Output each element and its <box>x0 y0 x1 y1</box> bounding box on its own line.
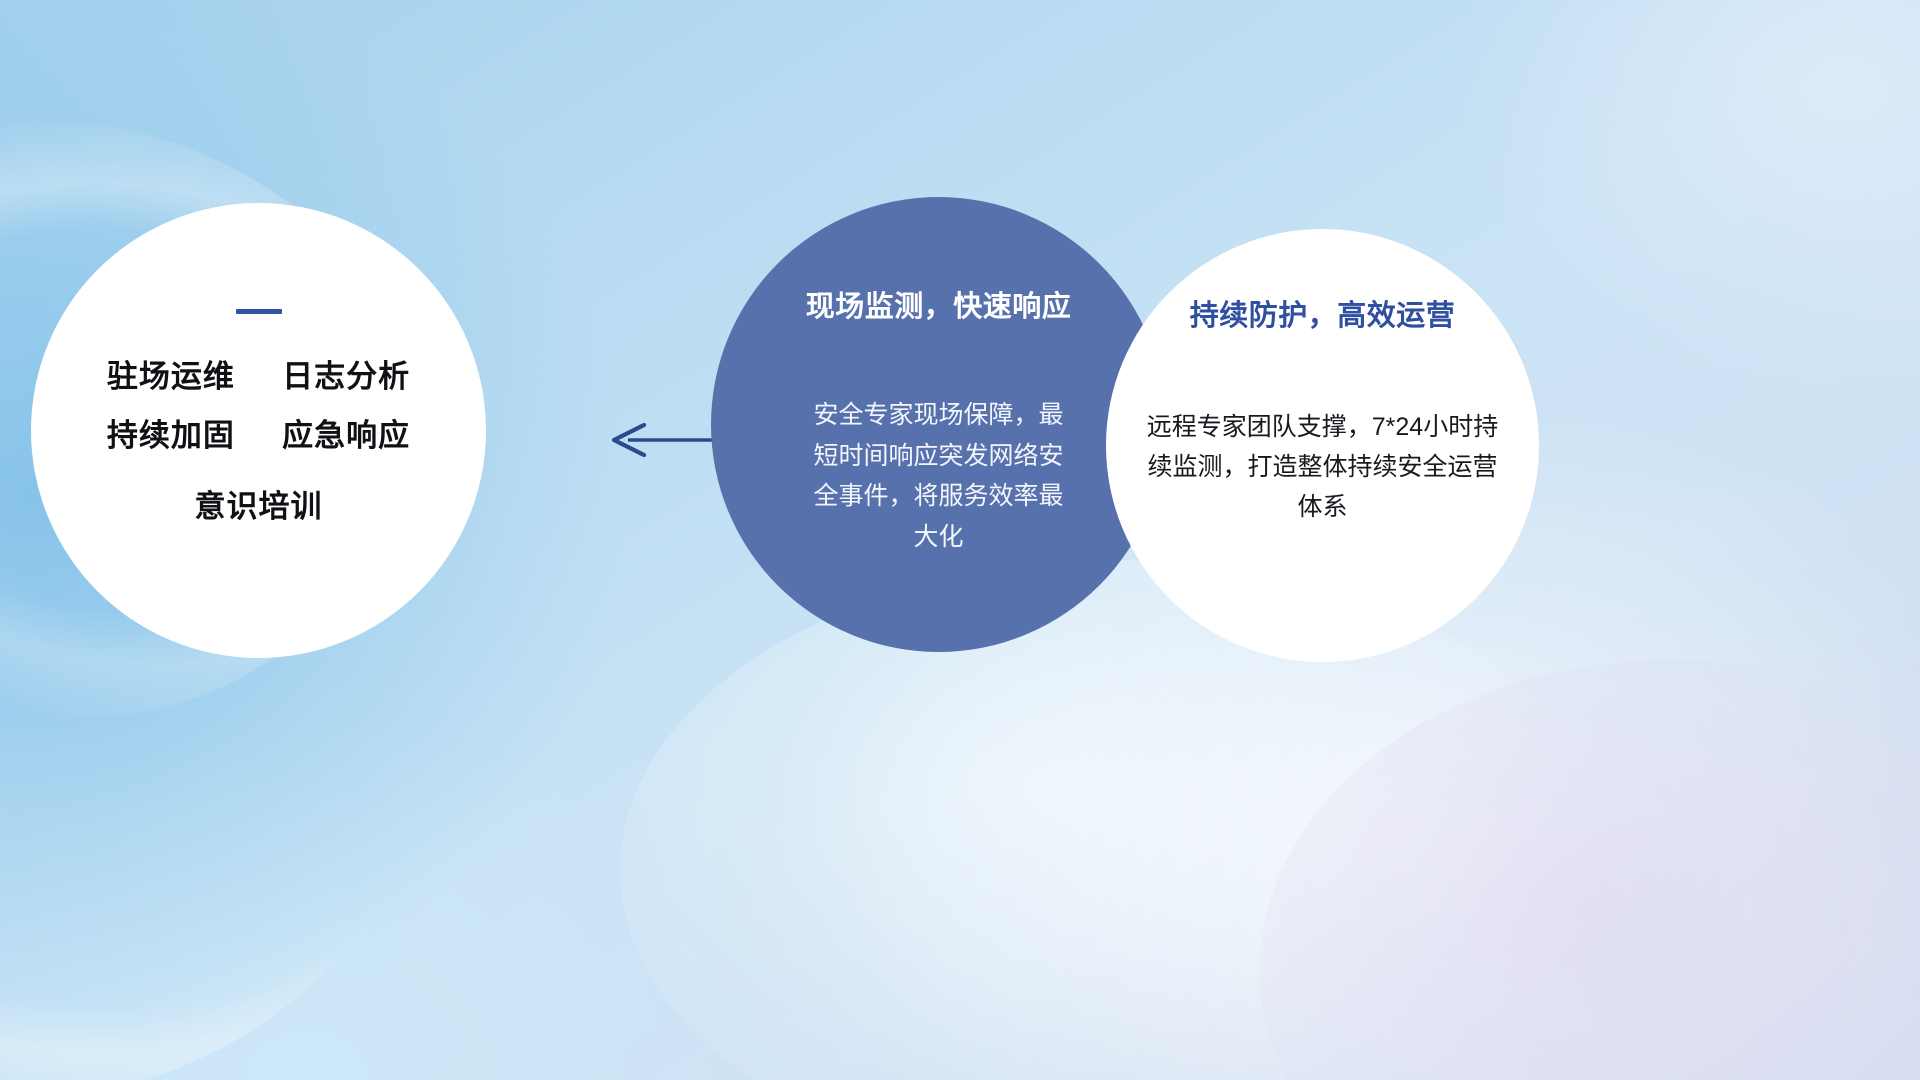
keyword-row-1: 驻场运维 日志分析 <box>107 361 410 392</box>
divider-dash-icon <box>236 309 282 314</box>
background-glow-bottom-right <box>1260 660 1920 1080</box>
right-continuous-protection-circle: 持续防护，高效运营 远程专家团队支撑，7*24小时持续监测，打造整体持续安全运营… <box>1106 229 1539 662</box>
middle-circle-title: 现场监测，快速响应 <box>806 283 1072 325</box>
keyword-row-3: 意识培训 <box>195 491 323 522</box>
keyword-row-2: 持续加固 应急响应 <box>107 420 410 451</box>
right-circle-title: 持续防护，高效运营 <box>1190 292 1456 334</box>
keyword-onsite-ops: 驻场运维 <box>107 359 235 394</box>
slide-canvas: 驻场运维 日志分析 持续加固 应急响应 意识培训 现场监测，快速响应 安全专家现… <box>0 0 1920 1080</box>
middle-onsite-monitoring-circle: 现场监测，快速响应 安全专家现场保障，最短时间响应突发网络安全事件，将服务效率最… <box>711 197 1166 652</box>
right-circle-body: 远程专家团队支撑，7*24小时持续监测，打造整体持续安全运营体系 <box>1142 407 1504 527</box>
background-glow-center-bottom <box>620 560 1620 1080</box>
keyword-log-analysis: 日志分析 <box>282 359 410 394</box>
left-capability-circle: 驻场运维 日志分析 持续加固 应急响应 意识培训 <box>31 203 486 658</box>
middle-circle-body: 安全专家现场保障，最短时间响应突发网络安全事件，将服务效率最大化 <box>803 395 1075 557</box>
keyword-continuous-hardening: 持续加固 <box>107 418 235 453</box>
keyword-emergency-response: 应急响应 <box>282 418 410 453</box>
